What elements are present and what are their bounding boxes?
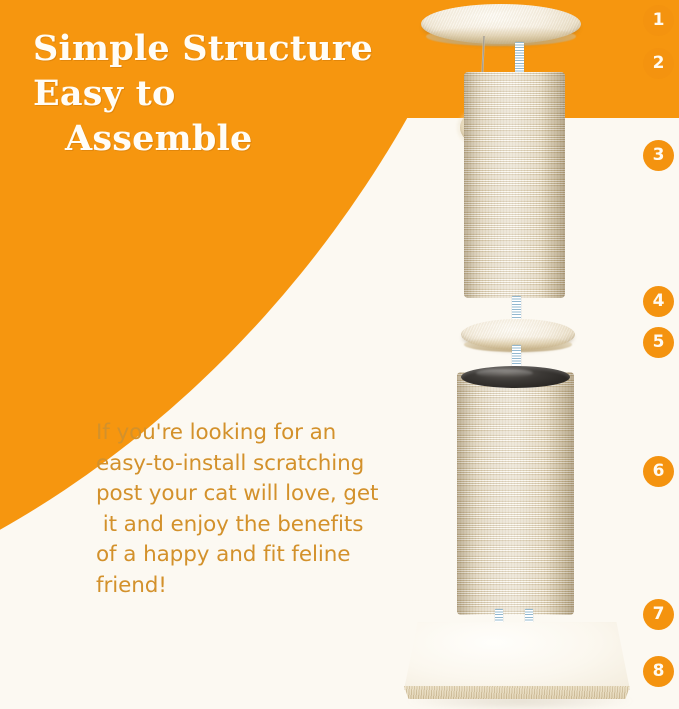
step-badge-8[interactable]: 8	[643, 656, 674, 687]
lower-sisal-post	[457, 372, 574, 615]
step-badge-4[interactable]: 4	[643, 286, 674, 317]
base-board-edge	[404, 686, 630, 699]
step-badge-3[interactable]: 3	[643, 140, 674, 171]
cat-scratching-post-illustration	[0, 0, 679, 709]
step-badge-7[interactable]: 7	[643, 599, 674, 630]
infographic-canvas: Simple Structure Easy to Assemble If you…	[0, 0, 679, 709]
top-threaded-rod	[515, 42, 524, 76]
lower-post-top-cap	[461, 366, 570, 388]
cap-highlight	[476, 369, 533, 378]
step-badge-1[interactable]: 1	[643, 5, 674, 36]
upper-sisal-post	[464, 72, 565, 298]
top-disc-rim	[426, 27, 576, 46]
top-plush-disc	[421, 4, 581, 44]
step-badge-6[interactable]: 6	[643, 456, 674, 487]
step-badge-5[interactable]: 5	[643, 327, 674, 358]
step-badge-2[interactable]: 2	[643, 48, 674, 79]
base-board-top	[404, 622, 630, 690]
